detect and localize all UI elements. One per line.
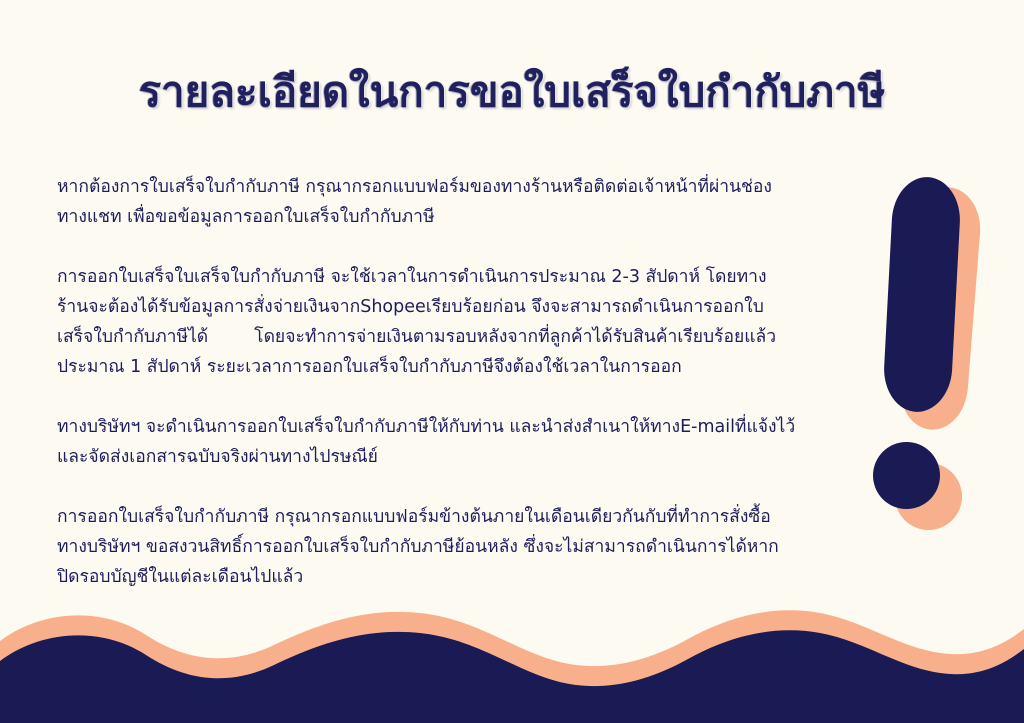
exclamation-dot — [873, 442, 940, 509]
paragraph-4: การออกใบเสร็จใบกำกับภาษี กรุณากรอกแบบฟอร… — [57, 502, 797, 592]
bottom-wave-decoration — [0, 583, 1024, 723]
slide-canvas: รายละเอียดในการขอใบเสร็จใบกำกับภาษี หากต… — [0, 0, 1024, 723]
exclamation-mark-icon — [860, 165, 1024, 525]
paragraph-2: การออกใบเสร็จใบเสร็จใบกำกับภาษี จะใช้เวล… — [57, 262, 797, 382]
exclamation-bar — [882, 175, 962, 413]
paragraph-3: ทางบริษัทฯ จะดำเนินการออกใบเสร็จใบกำกับภ… — [57, 412, 797, 472]
paragraph-1: หากต้องการใบเสร็จใบกำกับภาษี กรุณากรอกแบ… — [57, 172, 797, 232]
page-title: รายละเอียดในการขอใบเสร็จใบกำกับภาษี — [139, 66, 886, 118]
body-copy: หากต้องการใบเสร็จใบกำกับภาษี กรุณากรอกแบ… — [57, 172, 797, 592]
wave-svg — [0, 583, 1024, 723]
paragraph-4-text: การออกใบเสร็จใบกำกับภาษี กรุณากรอกแบบฟอร… — [57, 507, 779, 587]
paragraph-3-text: ทางบริษัทฯ จะดำเนินการออกใบเสร็จใบกำกับภ… — [57, 417, 795, 467]
paragraph-1-text: หากต้องการใบเสร็จใบกำกับภาษี กรุณากรอกแบ… — [57, 177, 772, 227]
title-container: รายละเอียดในการขอใบเสร็จใบกำกับภาษี — [0, 66, 1024, 118]
